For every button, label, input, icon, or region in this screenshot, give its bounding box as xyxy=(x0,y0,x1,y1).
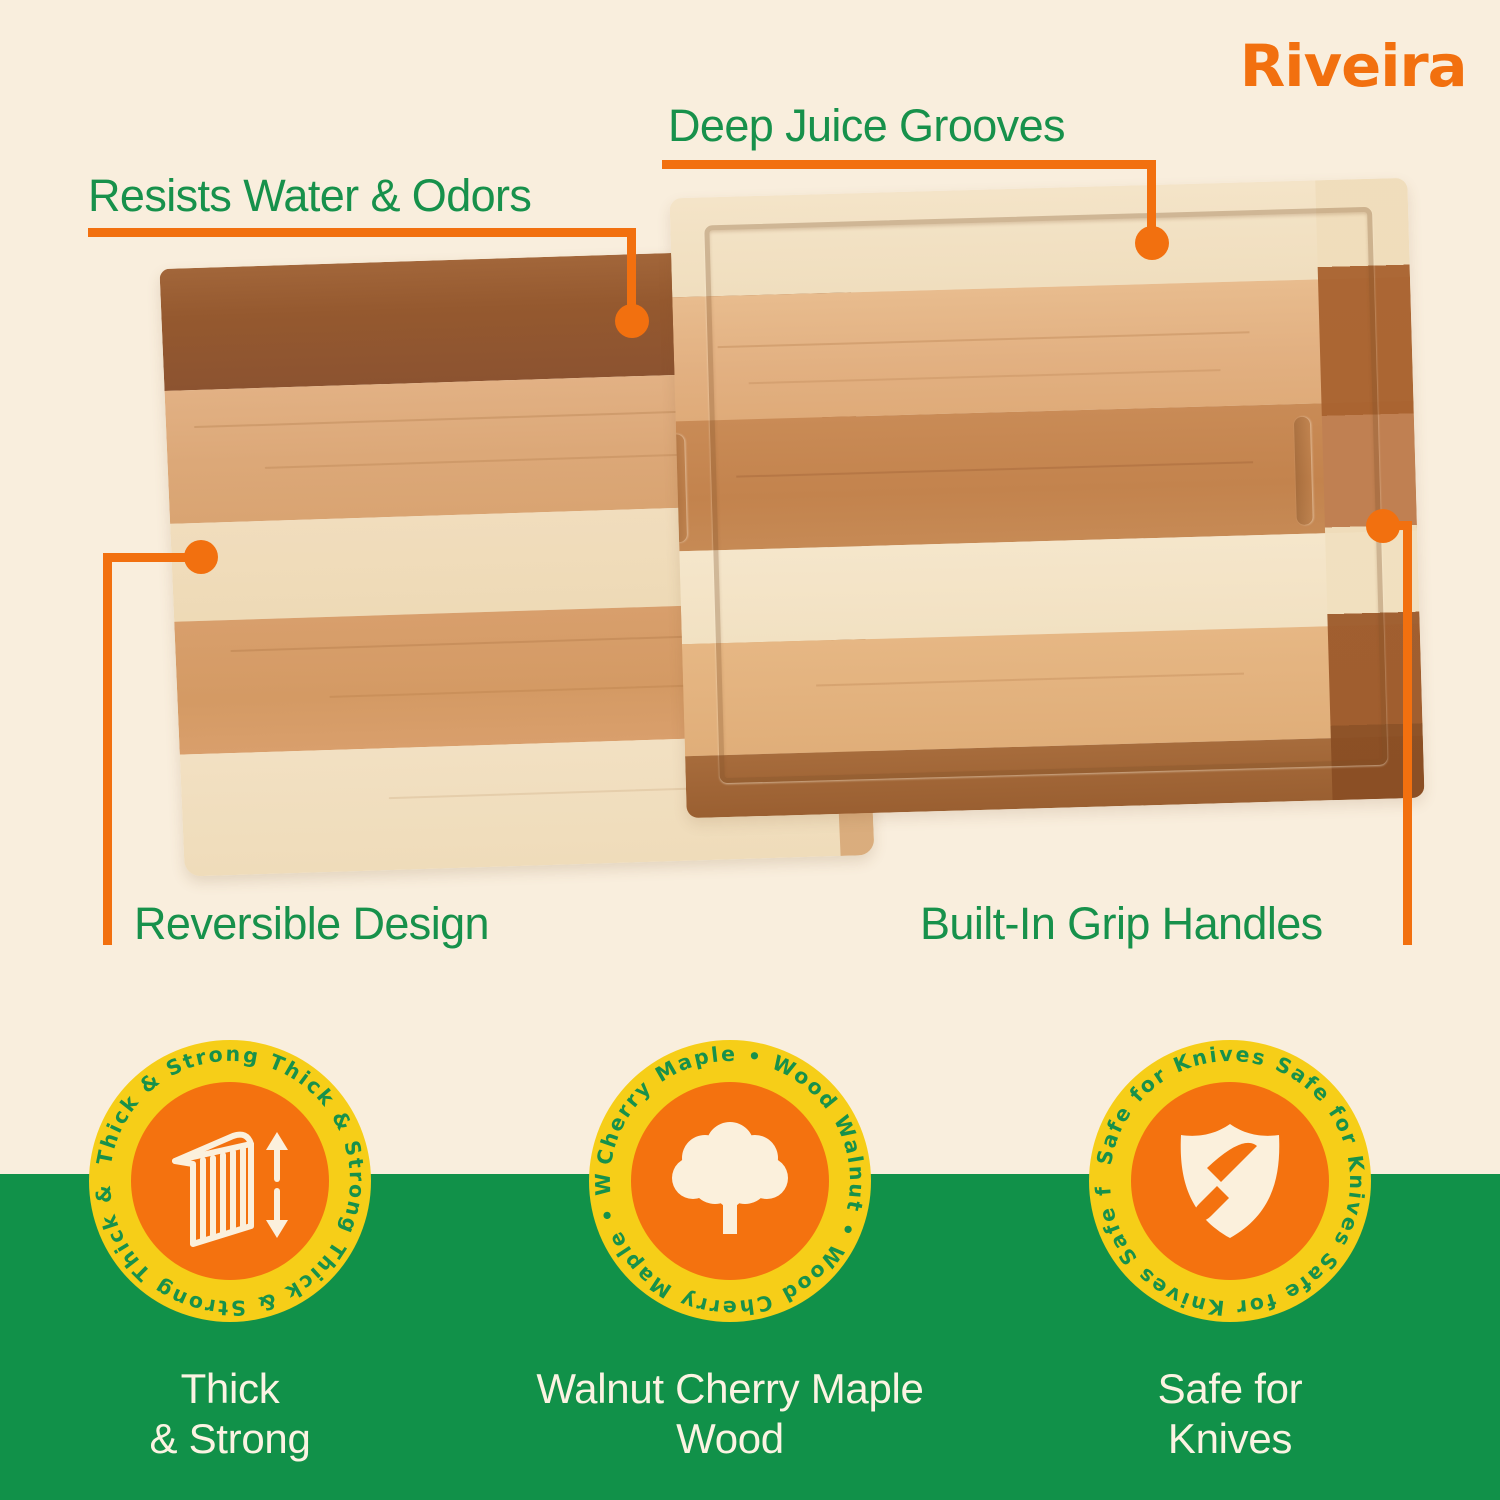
badge-caption-line2: & Strong xyxy=(20,1414,440,1464)
badge-circle: Safe for Knives Safe for Knives Safe for… xyxy=(1089,1040,1371,1322)
leader-dot-reversible xyxy=(184,540,218,574)
infographic-root: Riveira xyxy=(0,0,1500,1500)
callout-label-deep-juice-grooves: Deep Juice Grooves xyxy=(668,100,1065,152)
leader-dot-deep xyxy=(1135,226,1169,260)
badge-caption-walnut-cherry-maple-wood: Walnut Cherry Maple Wood xyxy=(520,1364,940,1463)
leader-line-deep-horizontal xyxy=(662,160,1156,169)
tree-icon xyxy=(631,1082,829,1280)
badge-caption-line2: Wood xyxy=(520,1414,940,1464)
badge-caption-line1: Safe for xyxy=(1020,1364,1440,1414)
leader-dot-resists xyxy=(615,304,649,338)
badge-caption-thick-and-strong: Thick & Strong xyxy=(20,1364,440,1463)
badge-caption-line1: Walnut Cherry Maple xyxy=(520,1364,940,1414)
badge-safe-for-knives: Safe for Knives Safe for Knives Safe for… xyxy=(1020,1040,1440,1463)
callout-label-resists-water-odors: Resists Water & Odors xyxy=(88,170,531,222)
juice-groove xyxy=(704,207,1387,783)
badge-walnut-cherry-maple-wood: Cherry Maple • Wood Walnut • Wood Cherry… xyxy=(520,1040,940,1463)
badge-caption-line2: Knives xyxy=(1020,1414,1440,1464)
leader-dot-grip xyxy=(1366,509,1400,543)
badge-circle: Cherry Maple • Wood Walnut • Wood Cherry… xyxy=(589,1040,871,1322)
grip-handle-right xyxy=(1294,417,1313,525)
badge-caption-safe-for-knives: Safe for Knives xyxy=(1020,1364,1440,1463)
leader-line-reversible-vertical xyxy=(103,553,112,945)
leader-line-resists-horizontal xyxy=(88,228,636,237)
badge-caption-line1: Thick xyxy=(20,1364,440,1414)
leader-line-grip-vertical xyxy=(1403,521,1412,945)
callout-label-reversible-design: Reversible Design xyxy=(134,898,489,950)
badge-circle: Thick & Strong Thick & Strong Thick & St… xyxy=(89,1040,371,1322)
brand-logo: Riveira xyxy=(1239,32,1466,100)
board-front-grooved xyxy=(669,178,1424,818)
callout-label-built-in-grip-handles: Built-In Grip Handles xyxy=(920,898,1323,950)
shield-knife-icon xyxy=(1131,1082,1329,1280)
badge-thick-and-strong: Thick & Strong Thick & Strong Thick & St… xyxy=(20,1040,440,1463)
thick-board-icon xyxy=(131,1082,329,1280)
